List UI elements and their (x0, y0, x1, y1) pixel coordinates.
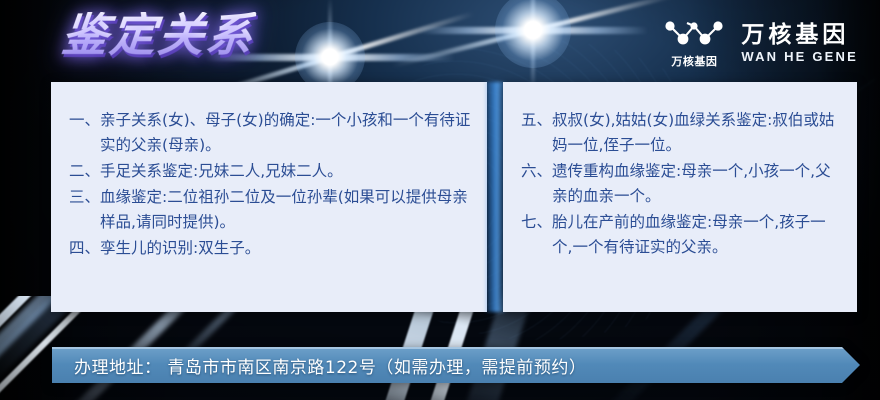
content-panel-right: 五、 叔叔(女),姑姑(女)血绿关系鉴定:叔伯或姑妈一位,侄子一位。 六、 遗传… (503, 82, 857, 312)
list-item: 一、 亲子关系(女)、母子(女)的确定:一个小孩和一个有待证实的父亲(母亲)。 (69, 108, 473, 158)
brand-wordmark: 万核基因 WAN HE GENE (741, 23, 858, 65)
list-item: 三、 血缘鉴定:二位祖孙二位及一位孙辈(如果可以提供母亲样品,请同时提供)。 (69, 185, 473, 235)
brand-mark-label: 万核基因 (671, 53, 717, 69)
list-item-text: 叔叔(女),姑姑(女)血绿关系鉴定:叔伯或姑妈一位,侄子一位。 (552, 108, 843, 158)
brand-mark: 万核基因 (663, 18, 725, 69)
slide-canvas: 鉴定关系 (0, 0, 880, 400)
list-item-text: 胎儿在产前的血缘鉴定:母亲一个,孩子一个,一个有待证实的父亲。 (552, 210, 843, 260)
brand-logo: 万核基因 万核基因 WAN HE GENE (663, 18, 858, 69)
list-item-text: 亲子关系(女)、母子(女)的确定:一个小孩和一个有待证实的父亲(母亲)。 (100, 108, 473, 158)
list-item: 七、 胎儿在产前的血缘鉴定:母亲一个,孩子一个,一个有待证实的父亲。 (521, 210, 843, 260)
content-panel-left: 一、 亲子关系(女)、母子(女)的确定:一个小孩和一个有待证实的父亲(母亲)。 … (51, 82, 487, 312)
list-item-number: 七、 (521, 210, 552, 235)
list-item-number: 五、 (521, 108, 552, 133)
list-item-number: 二、 (69, 159, 100, 184)
address-ribbon: 办理地址： 青岛市市南区南京路122号（如需办理，需提前预约） (52, 347, 860, 383)
list-item-text: 血缘鉴定:二位祖孙二位及一位孙辈(如果可以提供母亲样品,请同时提供)。 (100, 185, 473, 235)
address-text: 办理地址： 青岛市市南区南京路122号（如需办理，需提前预约） (74, 347, 586, 383)
list-item-number: 四、 (69, 236, 100, 261)
list-item-text: 遗传重构血缘鉴定:母亲一个,小孩一个,父亲的血亲一个。 (552, 159, 843, 209)
list-item-number: 一、 (69, 108, 100, 133)
list-item-text: 手足关系鉴定:兄妹二人,兄妹二人。 (100, 159, 473, 184)
page-title: 鉴定关系 (60, 12, 257, 58)
list-item: 六、 遗传重构血缘鉴定:母亲一个,小孩一个,父亲的血亲一个。 (521, 159, 843, 209)
brand-name-cn: 万核基因 (741, 23, 858, 48)
brand-name-en: WAN HE GENE (741, 50, 858, 64)
list-item: 五、 叔叔(女),姑姑(女)血绿关系鉴定:叔伯或姑妈一位,侄子一位。 (521, 108, 843, 158)
list-item: 四、 孪生儿的识别:双生子。 (69, 236, 473, 261)
list-item: 二、 手足关系鉴定:兄妹二人,兄妹二人。 (69, 159, 473, 184)
list-item-number: 六、 (521, 159, 552, 184)
list-item-text: 孪生儿的识别:双生子。 (100, 236, 473, 261)
molecule-icon (663, 18, 725, 50)
list-item-number: 三、 (69, 185, 100, 210)
